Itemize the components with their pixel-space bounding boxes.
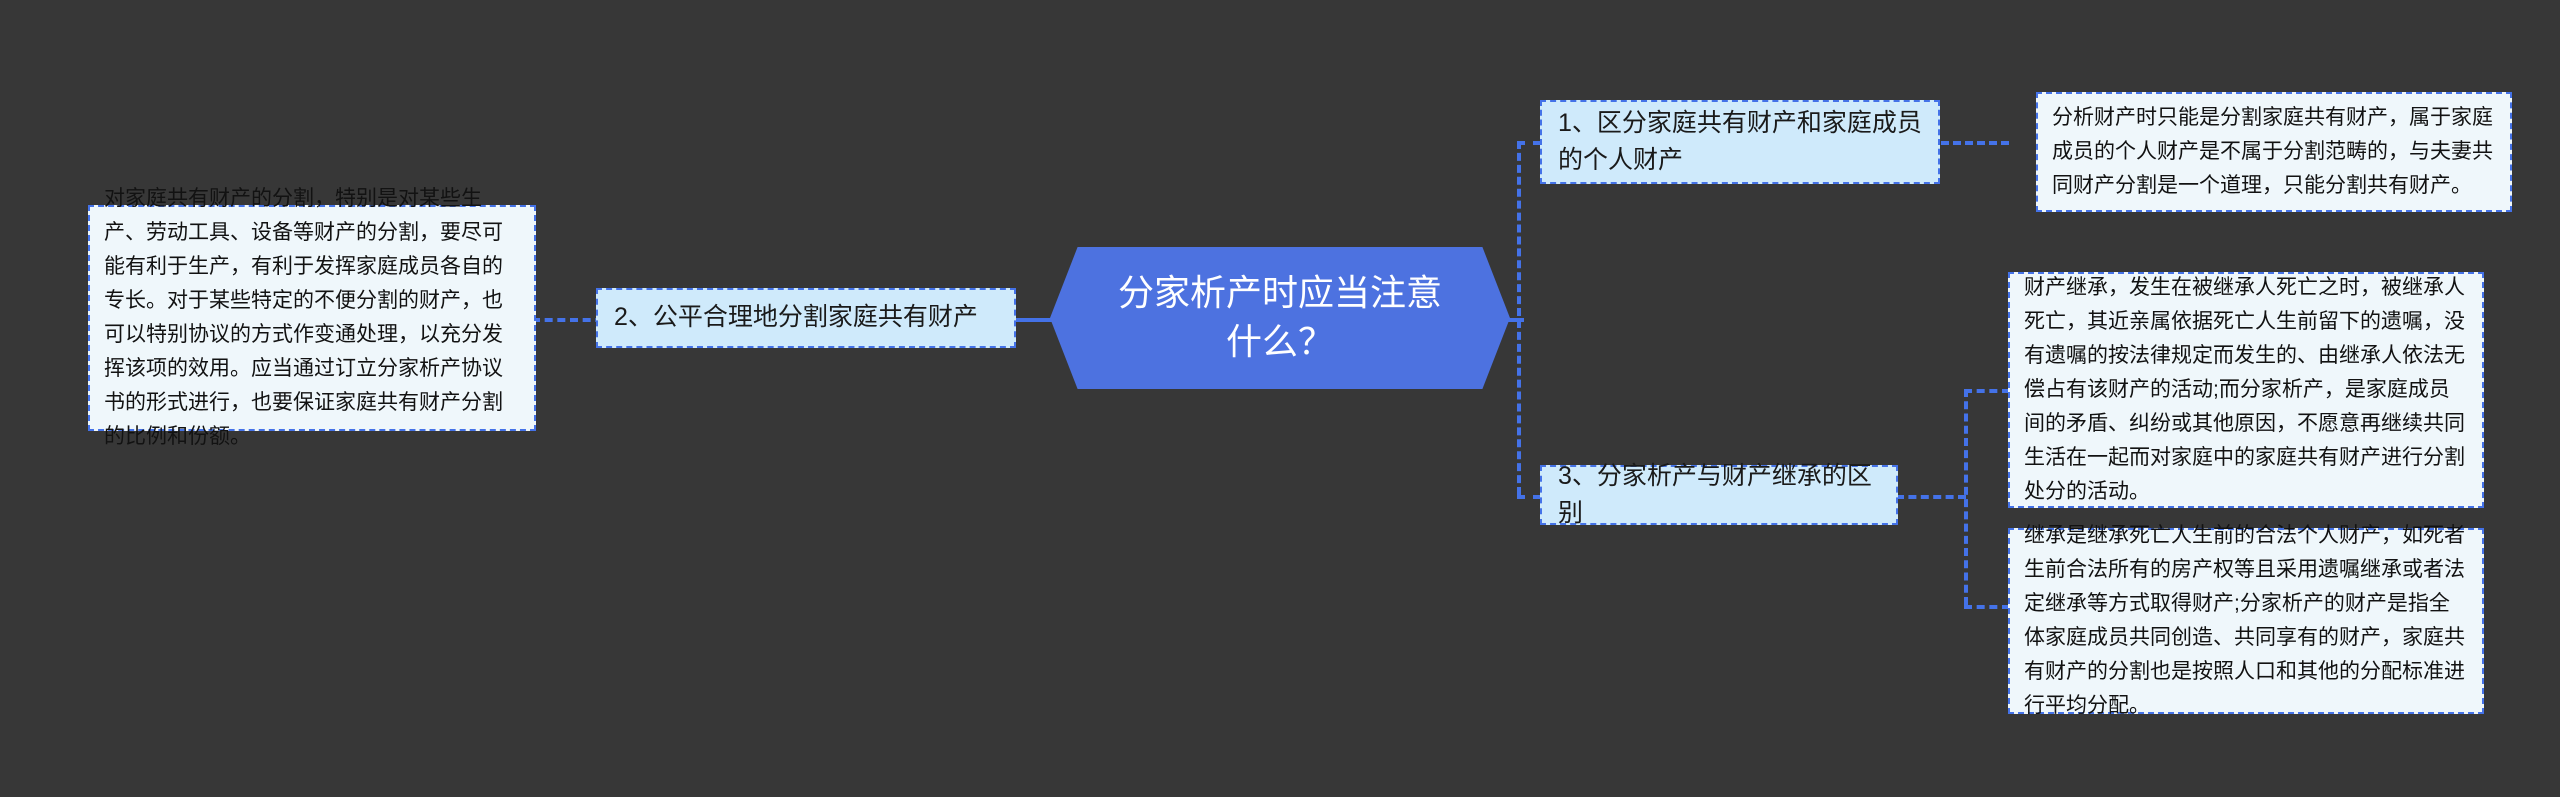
leaf-node-3-2-text: 继承是继承死亡人生前的合法个人财产，如死者生前合法所有的房产权等且采用遗嘱继承或… xyxy=(2024,519,2468,723)
connector-root-to-branch-2 xyxy=(1012,318,1056,322)
branch-node-1-label: 1、区分家庭共有财产和家庭成员的个人财产 xyxy=(1558,105,1922,180)
root-node[interactable]: 分家析产时应当注意什么？ xyxy=(1050,247,1510,389)
connector-branch-3-to-subspine xyxy=(1896,495,1966,499)
branch-node-2[interactable]: 2、公平合理地分割家庭共有财产 xyxy=(596,288,1016,348)
leaf-node-3-1[interactable]: 财产继承，发生在被继承人死亡之时，被继承人死亡，其近亲属依据死亡人生前留下的遗嘱… xyxy=(2008,272,2484,508)
leaf-node-3-2[interactable]: 继承是继承死亡人生前的合法个人财产，如死者生前合法所有的房产权等且采用遗嘱继承或… xyxy=(2008,528,2484,714)
connector-spine-to-branch-3 xyxy=(1517,495,1541,499)
mindmap-canvas: 分家析产时应当注意什么？ 2、公平合理地分割家庭共有财产 对家庭共有财产的分割，… xyxy=(0,0,2560,797)
connector-subspine-to-leaf-3-1 xyxy=(1964,389,2010,393)
branch-node-3-label: 3、分家析产与财产继承的区别 xyxy=(1558,458,1880,533)
leaf-node-3-1-text: 财产继承，发生在被继承人死亡之时，被继承人死亡，其近亲属依据死亡人生前留下的遗嘱… xyxy=(2024,271,2468,509)
connector-branch-1-to-leaf xyxy=(1941,141,2009,145)
branch-node-1[interactable]: 1、区分家庭共有财产和家庭成员的个人财产 xyxy=(1540,100,1940,184)
leaf-node-1-1-text: 分析财产时只能是分割家庭共有财产，属于家庭成员的个人财产是不属于分割范畴的，与夫… xyxy=(2052,101,2496,203)
branch-node-3[interactable]: 3、分家析产与财产继承的区别 xyxy=(1540,465,1898,525)
connector-right-spine xyxy=(1517,141,1521,495)
leaf-node-2-1-text: 对家庭共有财产的分割，特别是对某些生产、劳动工具、设备等财产的分割，要尽可能有利… xyxy=(104,182,520,454)
branch-node-2-label: 2、公平合理地分割家庭共有财产 xyxy=(614,299,998,337)
connector-spine-to-branch-1 xyxy=(1517,141,1541,145)
connector-branch-3-subspine xyxy=(1964,389,1968,605)
leaf-node-2-1[interactable]: 对家庭共有财产的分割，特别是对某些生产、劳动工具、设备等财产的分割，要尽可能有利… xyxy=(88,205,536,431)
connector-subspine-to-leaf-3-2 xyxy=(1964,605,2010,609)
root-node-label: 分家析产时应当注意什么？ xyxy=(1106,269,1454,366)
leaf-node-1-1[interactable]: 分析财产时只能是分割家庭共有财产，属于家庭成员的个人财产是不属于分割范畴的，与夫… xyxy=(2036,92,2512,212)
